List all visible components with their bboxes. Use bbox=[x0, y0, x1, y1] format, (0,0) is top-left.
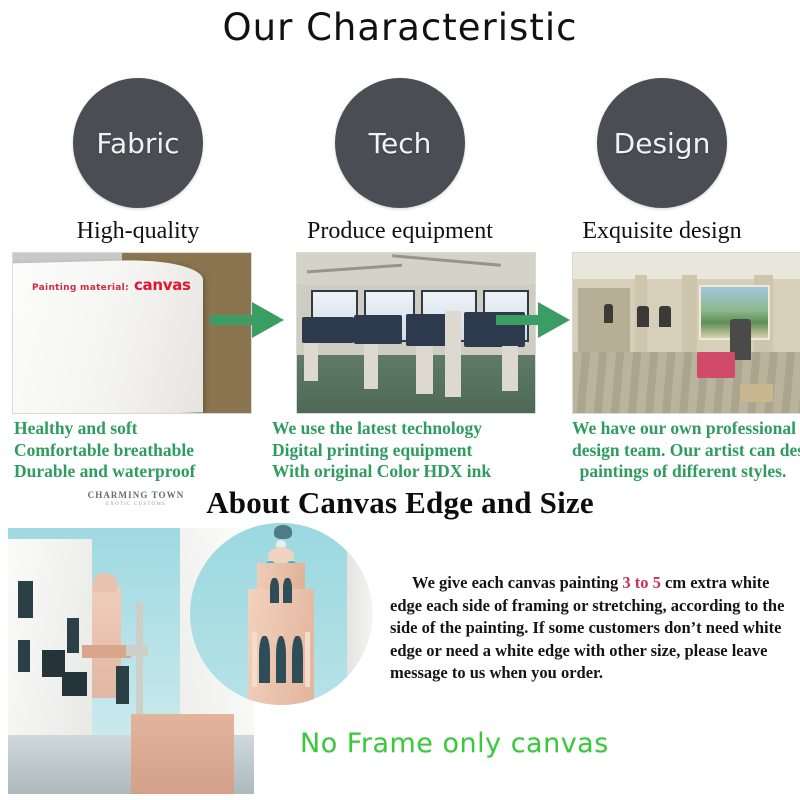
feature-column-design: Design Exquisite design bbox=[529, 78, 795, 245]
feature-description-design: We have our own professional design team… bbox=[572, 418, 794, 483]
infographic-page: Our Characteristic Fabric High-quality T… bbox=[0, 0, 800, 800]
description-line: Digital printing equipment bbox=[272, 440, 491, 462]
page-title: Our Characteristic bbox=[0, 6, 800, 49]
description-line: Durable and waterproof bbox=[14, 461, 195, 483]
badge-label: Fabric bbox=[96, 127, 179, 160]
feature-photos-row: Painting material: canvas bbox=[0, 252, 800, 414]
feature-caption: Produce equipment bbox=[267, 218, 533, 245]
overlay-label: Painting material: bbox=[32, 283, 129, 293]
studio-illustration bbox=[573, 253, 800, 413]
feature-descriptions-row: Healthy and soft Comfortable breathable … bbox=[0, 418, 800, 490]
canvas-photo-overlay-text: Painting material: canvas bbox=[32, 275, 191, 294]
description-line: paintings of different styles. bbox=[572, 461, 794, 483]
bell-tower-illustration bbox=[190, 523, 372, 705]
canvas-edge-paragraph: We give each canvas painting 3 to 5 cm e… bbox=[390, 572, 790, 685]
description-line: We have our own professional bbox=[572, 418, 794, 440]
description-line: With original Color HDX ink bbox=[272, 461, 491, 483]
badge-circle-design: Design bbox=[597, 78, 727, 208]
badge-label: Design bbox=[614, 127, 711, 160]
paragraph-prefix: We give each canvas painting bbox=[412, 573, 622, 592]
badge-circle-tech: Tech bbox=[335, 78, 465, 208]
feature-caption: High-quality bbox=[5, 218, 271, 245]
no-frame-note: No Frame only canvas bbox=[300, 728, 630, 759]
description-line: We use the latest technology bbox=[272, 418, 491, 440]
paragraph-highlight: 3 to 5 bbox=[622, 573, 661, 592]
right-arrow-icon bbox=[494, 300, 572, 340]
description-line: design team. Our artist can design bbox=[572, 440, 794, 462]
feature-column-tech: Tech Produce equipment bbox=[267, 78, 533, 245]
badge-label: Tech bbox=[369, 127, 432, 160]
design-studio-photo bbox=[572, 252, 800, 414]
feature-description-tech: We use the latest technology Digital pri… bbox=[272, 418, 491, 483]
right-arrow-icon bbox=[208, 300, 286, 340]
description-line: Healthy and soft bbox=[14, 418, 195, 440]
tower-closeup-inset bbox=[190, 523, 372, 705]
feature-badges-row: Fabric High-quality Tech Produce equipme… bbox=[0, 78, 800, 248]
feature-column-fabric: Fabric High-quality bbox=[5, 78, 271, 245]
description-line: Comfortable breathable bbox=[14, 440, 195, 462]
overlay-value: canvas bbox=[134, 276, 191, 294]
feature-caption: Exquisite design bbox=[529, 218, 795, 245]
watermark-brand-name: CHARMING TOWN bbox=[82, 490, 190, 500]
badge-circle-fabric: Fabric bbox=[73, 78, 203, 208]
feature-description-fabric: Healthy and soft Comfortable breathable … bbox=[14, 418, 195, 483]
watermark-subtitle: EXOTIC CUSTOMS bbox=[82, 502, 190, 507]
brand-watermark: CHARMING TOWN EXOTIC CUSTOMS bbox=[82, 490, 190, 507]
